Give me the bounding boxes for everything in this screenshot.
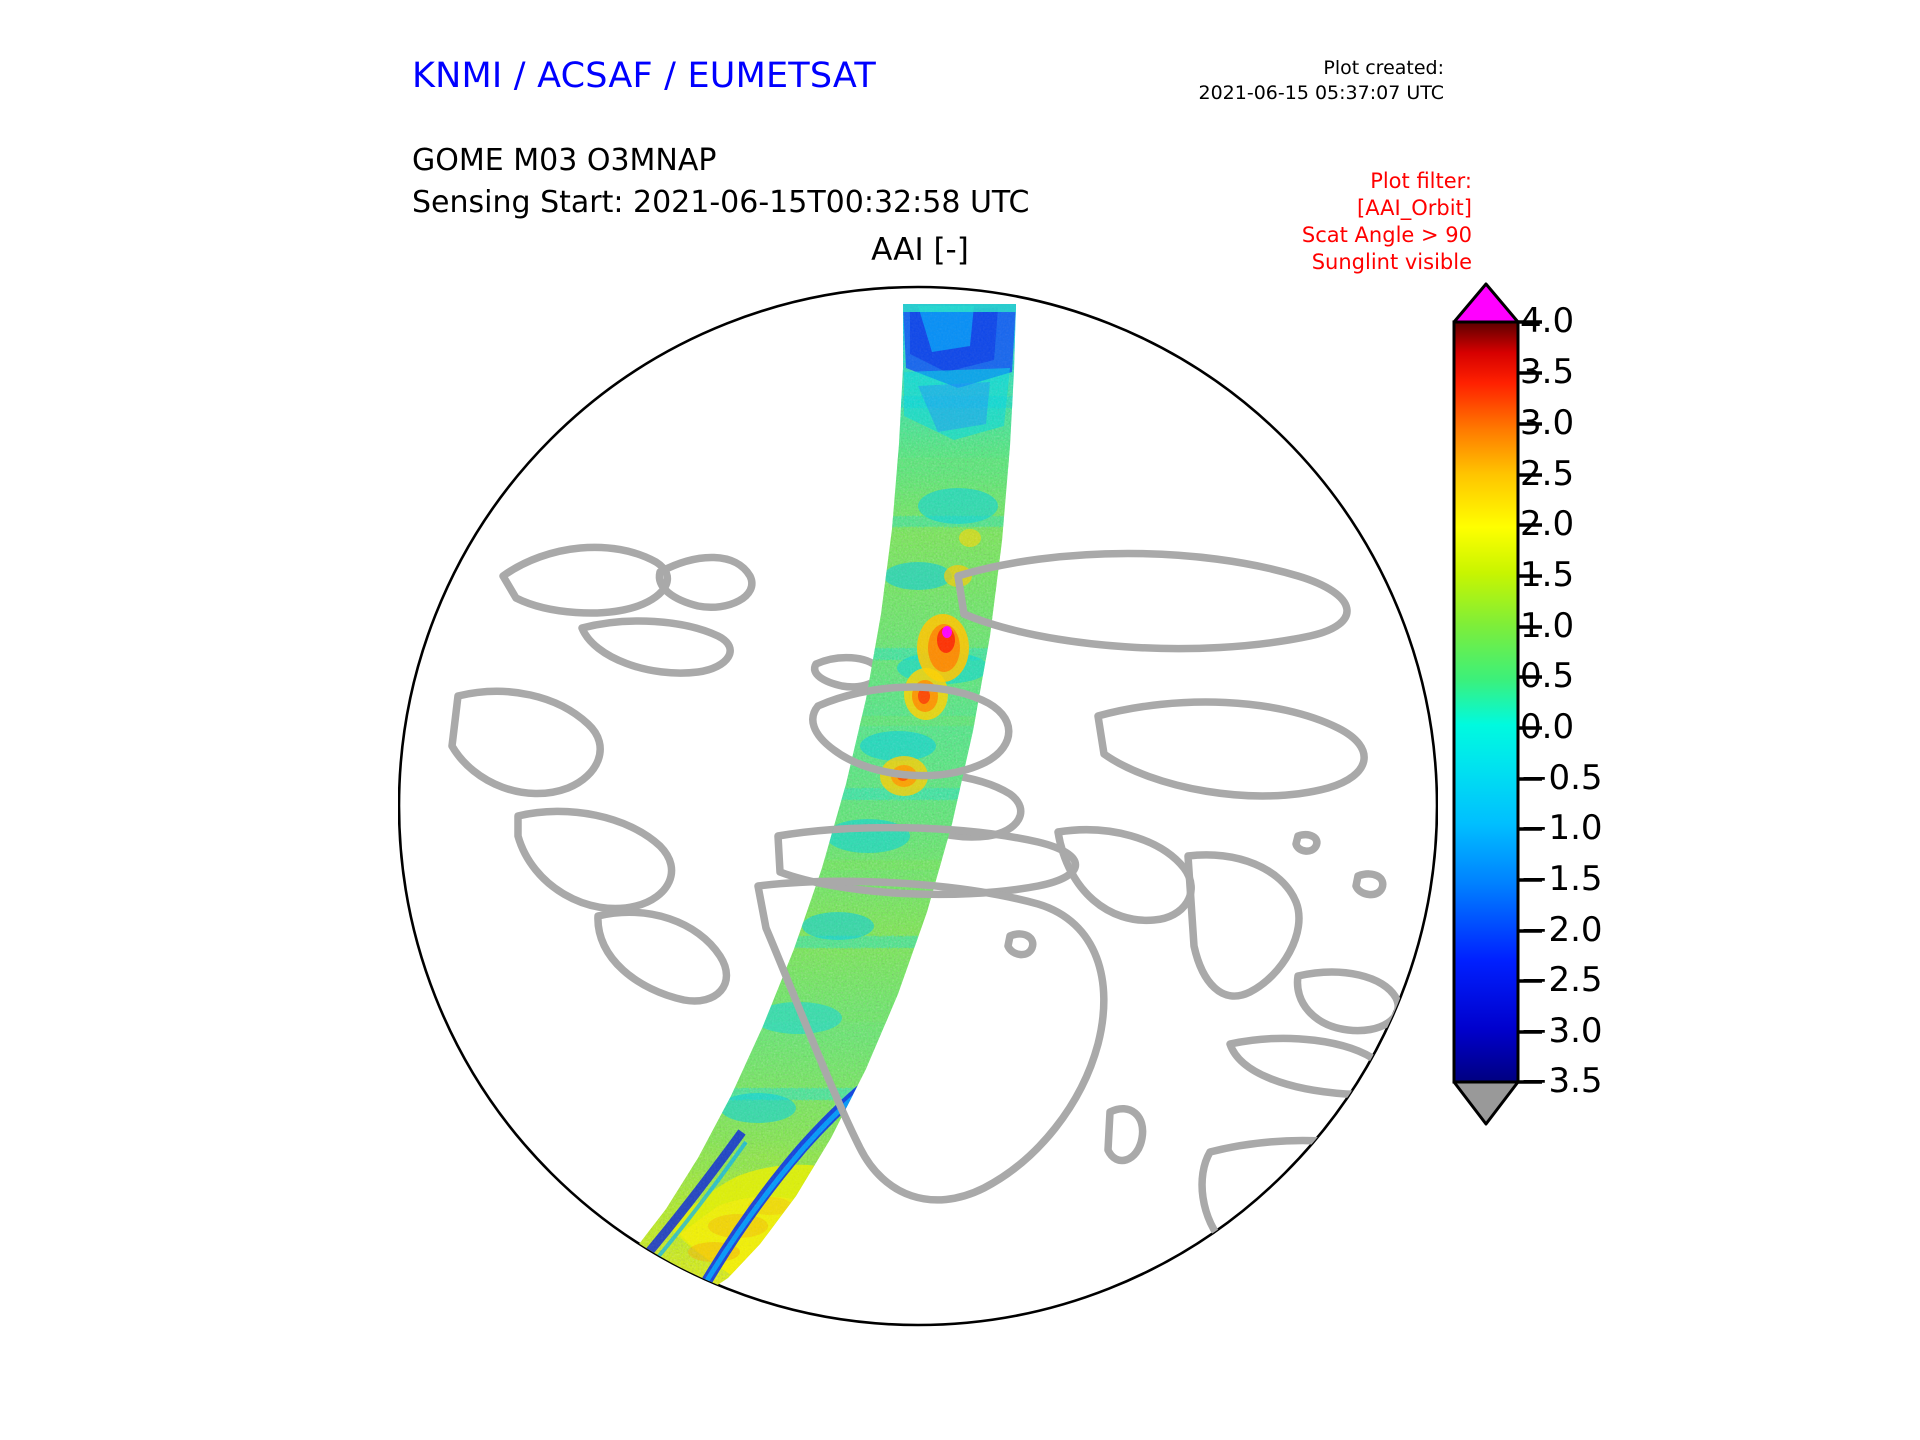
organisation-title: KNMI / ACSAF / EUMETSAT: [412, 56, 876, 96]
colorbar-gradient: [1454, 322, 1518, 1082]
orthographic-globe: [398, 276, 1438, 1336]
plot-created-block: Plot created: 2021-06-15 05:37:07 UTC: [1199, 56, 1445, 106]
colorbar-tick-label-2.5: 2.5: [1520, 457, 1574, 491]
plot-filter-scat-angle: Scat Angle > 90: [1302, 222, 1472, 249]
colorbar-tick-label-3.0: 3.0: [1520, 406, 1574, 440]
colorbar-tick-label-4.0: 4.0: [1520, 304, 1574, 338]
plot-filter-block: Plot filter: [AAI_Orbit] Scat Angle > 90…: [1302, 168, 1472, 276]
colorbar-tick-label-neg1.0: −1.0: [1520, 811, 1603, 845]
colorbar-svg: [1442, 282, 1772, 1302]
page-title: AAI [-]: [0, 232, 1840, 268]
colorbar-tick-label-neg1.5: −1.5: [1520, 862, 1603, 896]
colorbar-tick-label-neg0.5: −0.5: [1520, 761, 1603, 795]
sensing-start: Sensing Start: 2021-06-15T00:32:58 UTC: [412, 182, 1029, 224]
colorbar-tick-label-1.0: 1.0: [1520, 609, 1574, 643]
colorbar-tick-label-neg3.0: −3.0: [1520, 1014, 1603, 1048]
colorbar-tick-label-2.0: 2.0: [1520, 507, 1574, 541]
product-info-block: GOME M03 O3MNAP Sensing Start: 2021-06-1…: [412, 140, 1029, 224]
plot-created-timestamp: 2021-06-15 05:37:07 UTC: [1199, 81, 1445, 106]
colorbar-tick-label-1.5: 1.5: [1520, 558, 1574, 592]
colorbar-under-arrow: [1454, 1082, 1518, 1124]
map-canvas: [398, 276, 1438, 1336]
colorbar-tick-label-0.5: 0.5: [1520, 659, 1574, 693]
product-name: GOME M03 O3MNAP: [412, 140, 1029, 182]
plot-filter-label: Plot filter:: [1302, 168, 1472, 195]
colorbar-tick-label-neg2.5: −2.5: [1520, 963, 1603, 997]
plot-filter-dataset: [AAI_Orbit]: [1302, 195, 1472, 222]
colorbar: 4.0 3.5 3.0 2.5 2.0 1.5 1.0 0.5 0.0 −0.5…: [1442, 282, 1772, 1302]
colorbar-tick-label-neg2.0: −2.0: [1520, 913, 1603, 947]
colorbar-tick-label-0.0: 0.0: [1520, 710, 1574, 744]
colorbar-tick-label-neg3.5: −3.5: [1520, 1064, 1603, 1098]
plot-created-label: Plot created:: [1199, 56, 1445, 81]
plot-filter-sunglint: Sunglint visible: [1302, 249, 1472, 276]
colorbar-over-arrow: [1454, 284, 1518, 322]
colorbar-tick-label-3.5: 3.5: [1520, 355, 1574, 389]
